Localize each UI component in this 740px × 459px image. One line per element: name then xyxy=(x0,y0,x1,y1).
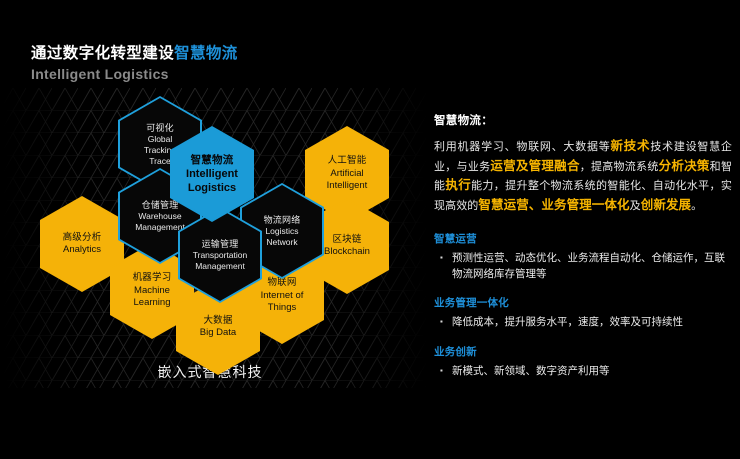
hex-label-en: Analytics xyxy=(63,244,101,257)
hex-label-en: Management xyxy=(135,222,185,233)
hex-label-en: Internet of xyxy=(261,290,304,303)
section-bullet: 降低成本，提升服务水平，速度，效率及可持续性 xyxy=(434,315,732,331)
hex-label-en: Intelligent xyxy=(186,167,238,181)
hex-label-en: Artificial xyxy=(330,168,363,181)
section-business-management-integration: 业务管理一体化降低成本，提升服务水平，速度，效率及可持续性 xyxy=(434,295,732,331)
lede-highlight: 分析决策 xyxy=(659,159,710,173)
hex-label-cn: 区块链 xyxy=(332,234,361,247)
hex-label-en: Machine xyxy=(134,285,170,298)
lede-text: 利用机器学习、物联网、大数据等 xyxy=(434,141,611,153)
hexagon-diagram: 可视化GlobalTrackingTrace智慧物流IntelligentLog… xyxy=(0,0,430,420)
hex-label-en: Things xyxy=(268,302,297,315)
lede-text: 及 xyxy=(630,200,641,212)
panel-sections: 智慧运营预测性运营、动态优化、业务流程自动化、仓储运作，互联物流网络库存管理等业… xyxy=(434,231,732,379)
hex-label-cn: 人工智能 xyxy=(328,155,367,168)
hex-label-cn: 机器学习 xyxy=(133,272,172,285)
hex-label-cn: 高级分析 xyxy=(63,232,102,245)
hex-label-cn: 大数据 xyxy=(203,315,232,328)
hex-label-cn: 可视化 xyxy=(146,122,174,134)
section-bullet: 新模式、新领域、数字资产利用等 xyxy=(434,364,732,380)
hex-label-en: Global xyxy=(148,134,173,145)
hex-label-en: Trace xyxy=(149,156,170,167)
lede-highlight: 新技术 xyxy=(611,139,651,153)
info-panel: 智慧物流： 利用机器学习、物联网、大数据等新技术技术建设智慧企业，与业务运营及管… xyxy=(434,112,732,379)
slide-root: 通过数字化转型建设智慧物流 Intelligent Logistics 可视化G… xyxy=(0,0,740,459)
lede-highlight: 创新发展 xyxy=(641,198,691,212)
section-bullet: 预测性运营、动态优化、业务流程自动化、仓储运作，互联物流网络库存管理等 xyxy=(434,251,732,282)
hex-label-cn: 物联网 xyxy=(267,277,296,290)
lede-highlight: 执行 xyxy=(445,178,471,192)
lede-text: ，提高物流系统 xyxy=(580,161,659,173)
lede-text: 。 xyxy=(691,200,702,212)
panel-heading: 智慧物流： xyxy=(434,112,732,128)
hex-label-en: Intelligent xyxy=(327,180,368,193)
hex-label-en: Warehouse xyxy=(138,211,181,222)
hex-label-cn: 智慧物流 xyxy=(191,153,234,167)
lede-highlight: 运营及管理融合 xyxy=(490,159,579,173)
hex-label-en: Management xyxy=(195,261,245,272)
hex-label-en: Blockchain xyxy=(324,246,370,259)
hex-label-en: Logistics xyxy=(188,181,236,195)
hex-label-en: Learning xyxy=(134,297,171,310)
hex-label-en: Transportation xyxy=(193,250,248,261)
hex-label-cn: 运输管理 xyxy=(202,238,239,250)
hex-label-en: Big Data xyxy=(200,327,236,340)
section-business-innovation: 业务创新新模式、新领域、数字资产利用等 xyxy=(434,344,732,380)
section-title: 智慧运营 xyxy=(434,231,732,246)
hex-label-cn: 物流网络 xyxy=(264,214,301,226)
hex-label-cn: 仓储管理 xyxy=(142,199,179,211)
lede-highlight: 智慧运营、业务管理一体化 xyxy=(478,198,629,212)
section-smart-operations: 智慧运营预测性运营、动态优化、业务流程自动化、仓储运作，互联物流网络库存管理等 xyxy=(434,231,732,282)
panel-lede-paragraph: 利用机器学习、物联网、大数据等新技术技术建设智慧企业，与业务运营及管理融合，提高… xyxy=(434,137,732,215)
hex-label-en: Logistics xyxy=(265,226,298,237)
section-title: 业务创新 xyxy=(434,344,732,359)
hex-label-en: Network xyxy=(266,237,297,248)
section-title: 业务管理一体化 xyxy=(434,295,732,310)
